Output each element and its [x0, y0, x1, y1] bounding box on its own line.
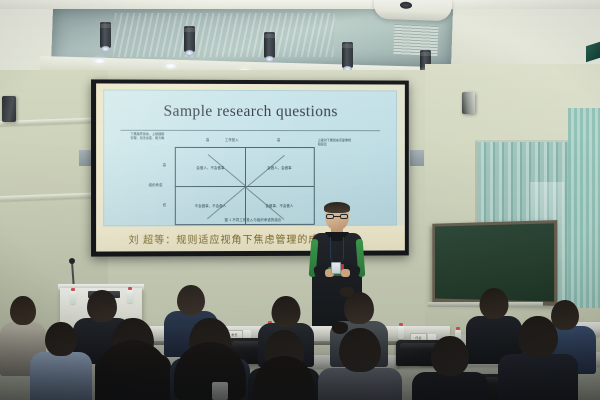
figure-corner-top-right: 上级对下属建言高度重视和接近 [318, 139, 352, 147]
matrix-quadrant: 会做人、不会做事 [176, 148, 245, 186]
ceiling-spotlight-icon [184, 26, 195, 52]
left-wall-speaker [2, 96, 16, 122]
figure-axis-top-label: 工作投入 [225, 138, 239, 142]
figure-2x2-matrix: 会做人、不会做事 会做人、会做事 不会做事、不会做人 会做事、不会做人 [175, 147, 315, 225]
lecture-hall-photo: Sample research questions 工作投入 高 高 高 组织承… [0, 0, 600, 400]
audience-member [170, 318, 250, 400]
audience-head [177, 285, 205, 315]
ceiling-rim-top [0, 0, 600, 9]
figure-corner-top-left: 下属越界建言，上级越级管理，但无态度、能力等 [130, 133, 164, 141]
audience-head [518, 316, 558, 358]
audience-member [248, 330, 320, 400]
ceiling-spotlight-icon [264, 32, 275, 58]
audience-long-hair [174, 342, 246, 400]
audience-ponytail [254, 356, 314, 400]
slide-title: Sample research questions [104, 103, 396, 122]
microphone-icon [69, 258, 75, 264]
audience-member [498, 316, 578, 400]
audience-member [30, 322, 92, 400]
figure-axis-top-left-tick: 高 [206, 138, 209, 142]
audience-long-hair [97, 340, 169, 400]
ceiling-projector [374, 0, 452, 21]
audience-member [318, 328, 402, 400]
window-blinds-secondary [568, 108, 600, 308]
eyeglasses-icon [326, 214, 348, 219]
figure-axis-top-right-tick: 高 [277, 138, 280, 142]
ceiling-vent-grille [393, 24, 438, 56]
screen-side-tab [410, 150, 424, 166]
matrix-quadrant: 会做人、会做事 [245, 148, 314, 186]
audience-head [431, 336, 469, 376]
right-wall-speaker [462, 92, 475, 114]
presenter-hand [341, 269, 350, 277]
projector-lens-icon [400, 2, 412, 9]
figure-axis-left-bottom-tick: 低 [163, 203, 166, 207]
audience-member [412, 336, 488, 400]
figure-axis-left-label: 组织承诺 [149, 183, 163, 187]
audience-member [95, 318, 171, 400]
recess-texture [113, 13, 335, 57]
paper-cup [212, 382, 228, 400]
ceiling-downlight-icon [164, 63, 177, 69]
conference-badge [331, 262, 341, 274]
audience-head [272, 296, 301, 327]
audience-hair-bun [332, 322, 348, 334]
ceiling-spotlight-icon [342, 42, 353, 68]
ceiling-spotlight-icon [100, 22, 111, 48]
audience-body [412, 372, 488, 400]
presenter-hair [324, 202, 350, 213]
audience-body [30, 352, 92, 400]
audience-body [318, 368, 402, 400]
audience-head [339, 328, 381, 372]
lanyard [330, 237, 344, 263]
audience-head [10, 296, 36, 325]
audience-body [498, 354, 578, 400]
ceiling-downlight-icon [93, 58, 106, 64]
audience-head [45, 322, 77, 356]
figure-axis-left-top-tick: 高 [163, 163, 166, 167]
audience-head [480, 288, 509, 319]
audience-hair-bun [340, 287, 354, 297]
